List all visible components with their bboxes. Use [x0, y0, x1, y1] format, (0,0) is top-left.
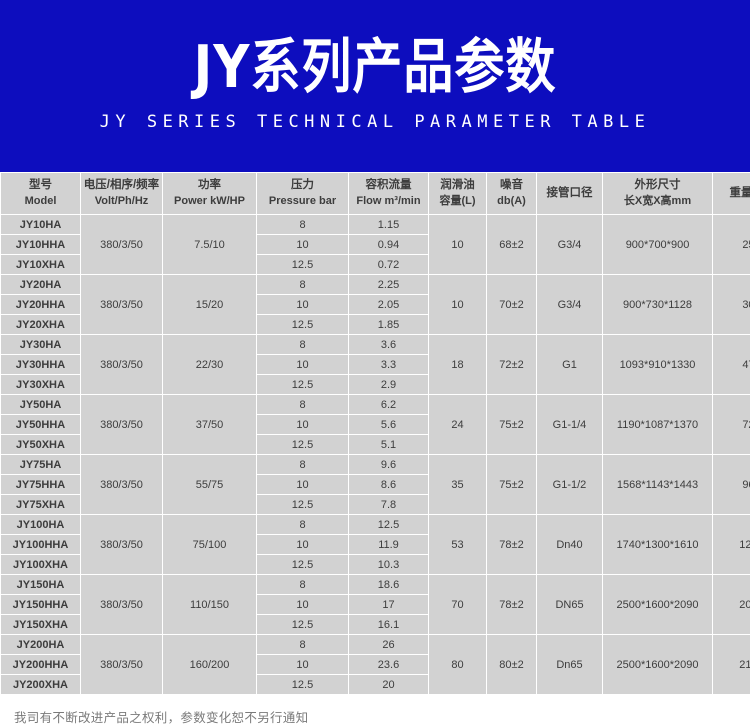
table-row: JY150HA380/3/50110/150818.67078±2DN65250… [1, 575, 750, 595]
cell-noise: 70±2 [487, 275, 537, 335]
column-header-weight: 重量(kg) [713, 173, 750, 215]
cell-flow: 1.15 [349, 215, 429, 235]
header-row: 型号 Model 电压/相序/频率 Volt/Ph/Hz 功率 Power kW… [1, 173, 750, 215]
cell-dimension: 1568*1143*1443 [603, 455, 713, 515]
cell-pressure: 8 [257, 575, 349, 595]
cell-flow: 3.3 [349, 355, 429, 375]
cell-pressure: 8 [257, 215, 349, 235]
cell-flow: 12.5 [349, 515, 429, 535]
column-header-model-cn: 型号 [1, 178, 80, 194]
cell-pipe-diameter: G1 [537, 335, 603, 395]
table-row: JY30HA380/3/5022/3083.61872±2G11093*910*… [1, 335, 750, 355]
cell-pipe-diameter: G3/4 [537, 215, 603, 275]
cell-voltage: 380/3/50 [81, 275, 163, 335]
cell-noise: 78±2 [487, 575, 537, 635]
cell-flow: 10.3 [349, 555, 429, 575]
cell-lubricant: 35 [429, 455, 487, 515]
cell-dimension: 1190*1087*1370 [603, 395, 713, 455]
cell-model: JY100HA [1, 515, 81, 535]
cell-flow: 20 [349, 675, 429, 695]
cell-dimension: 900*700*900 [603, 215, 713, 275]
cell-pressure: 10 [257, 595, 349, 615]
cell-model: JY50HHA [1, 415, 81, 435]
cell-flow: 26 [349, 635, 429, 655]
cell-weight: 961 [713, 455, 750, 515]
column-header-pressure: 压力 Pressure bar [257, 173, 349, 215]
cell-model: JY75HHA [1, 475, 81, 495]
cell-voltage: 380/3/50 [81, 335, 163, 395]
banner-title-english: JY SERIES TECHNICAL PARAMETER TABLE [100, 114, 651, 131]
cell-dimension: 2500*1600*2090 [603, 575, 713, 635]
cell-pressure: 12.5 [257, 435, 349, 455]
cell-dimension: 900*730*1128 [603, 275, 713, 335]
cell-noise: 80±2 [487, 635, 537, 695]
cell-flow: 5.6 [349, 415, 429, 435]
cell-voltage: 380/3/50 [81, 635, 163, 695]
cell-flow: 2.05 [349, 295, 429, 315]
table-row: JY75HA380/3/5055/7589.63575±2G1-1/21568*… [1, 455, 750, 475]
cell-dimension: 1740*1300*1610 [603, 515, 713, 575]
cell-model: JY150HA [1, 575, 81, 595]
cell-model: JY30XHA [1, 375, 81, 395]
cell-model: JY10HHA [1, 235, 81, 255]
cell-power: 15/20 [163, 275, 257, 335]
cell-lubricant: 18 [429, 335, 487, 395]
cell-pressure: 8 [257, 335, 349, 355]
cell-weight: 308 [713, 275, 750, 335]
cell-weight: 470 [713, 335, 750, 395]
cell-flow: 0.94 [349, 235, 429, 255]
column-header-model: 型号 Model [1, 173, 81, 215]
cell-dimension: 2500*1600*2090 [603, 635, 713, 695]
cell-model: JY150XHA [1, 615, 81, 635]
cell-pressure: 8 [257, 395, 349, 415]
cell-pressure: 12.5 [257, 675, 349, 695]
table-header: 型号 Model 电压/相序/频率 Volt/Ph/Hz 功率 Power kW… [1, 173, 750, 215]
cell-noise: 78±2 [487, 515, 537, 575]
cell-model: JY10HA [1, 215, 81, 235]
cell-model: JY10XHA [1, 255, 81, 275]
cell-pipe-diameter: G1-1/2 [537, 455, 603, 515]
cell-noise: 68±2 [487, 215, 537, 275]
cell-flow: 5.1 [349, 435, 429, 455]
cell-lubricant: 10 [429, 275, 487, 335]
cell-power: 55/75 [163, 455, 257, 515]
cell-model: JY150HHA [1, 595, 81, 615]
cell-weight: 2050 [713, 575, 750, 635]
cell-flow: 7.8 [349, 495, 429, 515]
cell-voltage: 380/3/50 [81, 515, 163, 575]
spec-table-container: 型号 Model 电压/相序/频率 Volt/Ph/Hz 功率 Power kW… [0, 172, 750, 695]
cell-pressure: 12.5 [257, 555, 349, 575]
cell-model: JY100HHA [1, 535, 81, 555]
cell-flow: 2.25 [349, 275, 429, 295]
cell-lubricant: 70 [429, 575, 487, 635]
cell-model: JY200XHA [1, 675, 81, 695]
cell-power: 160/200 [163, 635, 257, 695]
cell-flow: 0.72 [349, 255, 429, 275]
cell-pressure: 12.5 [257, 495, 349, 515]
column-header-lubricant: 润滑油 容量(L) [429, 173, 487, 215]
cell-model: JY75HA [1, 455, 81, 475]
cell-dimension: 1093*910*1330 [603, 335, 713, 395]
cell-voltage: 380/3/50 [81, 575, 163, 635]
cell-pipe-diameter: DN65 [537, 575, 603, 635]
table-row: JY200HA380/3/50160/2008268080±2Dn652500*… [1, 635, 750, 655]
cell-model: JY20XHA [1, 315, 81, 335]
column-header-pipe-diameter-cn: 接管口径 [537, 186, 602, 202]
cell-lubricant: 80 [429, 635, 487, 695]
cell-weight: 1235 [713, 515, 750, 575]
table-row: JY10HA380/3/507.5/1081.151068±2G3/4900*7… [1, 215, 750, 235]
cell-model: JY200HA [1, 635, 81, 655]
column-header-pressure-en: Pressure bar [257, 194, 348, 209]
cell-pressure: 10 [257, 535, 349, 555]
column-header-flow-en: Flow m³/min [349, 194, 428, 209]
cell-power: 75/100 [163, 515, 257, 575]
cell-flow: 6.2 [349, 395, 429, 415]
column-header-power-cn: 功率 [163, 178, 256, 194]
cell-flow: 11.9 [349, 535, 429, 555]
table-body: JY10HA380/3/507.5/1081.151068±2G3/4900*7… [1, 215, 750, 695]
cell-flow: 18.6 [349, 575, 429, 595]
column-header-voltage-en: Volt/Ph/Hz [81, 194, 162, 209]
cell-model: JY75XHA [1, 495, 81, 515]
cell-flow: 3.6 [349, 335, 429, 355]
cell-pressure: 10 [257, 475, 349, 495]
column-header-flow-cn: 容积流量 [349, 178, 428, 194]
column-header-lubricant-cn: 润滑油 [429, 178, 486, 194]
cell-noise: 75±2 [487, 395, 537, 455]
cell-pressure: 12.5 [257, 315, 349, 335]
cell-flow: 1.85 [349, 315, 429, 335]
banner-title-chinese: JY系列产品参数 [194, 37, 557, 96]
cell-power: 7.5/10 [163, 215, 257, 275]
cell-flow: 9.6 [349, 455, 429, 475]
cell-flow: 23.6 [349, 655, 429, 675]
cell-model: JY20HA [1, 275, 81, 295]
column-header-voltage: 电压/相序/频率 Volt/Ph/Hz [81, 173, 163, 215]
cell-pressure: 10 [257, 655, 349, 675]
cell-model: JY200HHA [1, 655, 81, 675]
cell-weight: 250 [713, 215, 750, 275]
cell-lubricant: 24 [429, 395, 487, 455]
cell-pressure: 12.5 [257, 255, 349, 275]
column-header-lubricant-en: 容量(L) [429, 194, 486, 209]
cell-noise: 75±2 [487, 455, 537, 515]
column-header-pressure-cn: 压力 [257, 178, 348, 194]
table-row: JY100HA380/3/5075/100812.55378±2Dn401740… [1, 515, 750, 535]
cell-voltage: 380/3/50 [81, 215, 163, 275]
cell-pipe-diameter: Dn65 [537, 635, 603, 695]
cell-model: JY20HHA [1, 295, 81, 315]
cell-pipe-diameter: G1-1/4 [537, 395, 603, 455]
cell-power: 37/50 [163, 395, 257, 455]
technical-parameter-table: 型号 Model 电压/相序/频率 Volt/Ph/Hz 功率 Power kW… [0, 172, 750, 695]
cell-model: JY50XHA [1, 435, 81, 455]
column-header-weight-cn: 重量(kg) [713, 186, 750, 202]
cell-pipe-diameter: Dn40 [537, 515, 603, 575]
column-header-noise-en: db(A) [487, 194, 536, 209]
cell-lubricant: 53 [429, 515, 487, 575]
cell-model: JY30HA [1, 335, 81, 355]
cell-voltage: 380/3/50 [81, 455, 163, 515]
column-header-dimension-cn: 外形尺寸 [603, 178, 712, 194]
cell-pipe-diameter: G3/4 [537, 275, 603, 335]
column-header-power: 功率 Power kW/HP [163, 173, 257, 215]
cell-flow: 17 [349, 595, 429, 615]
column-header-voltage-cn: 电压/相序/频率 [81, 178, 162, 194]
cell-power: 22/30 [163, 335, 257, 395]
cell-pressure: 8 [257, 455, 349, 475]
table-row: JY20HA380/3/5015/2082.251070±2G3/4900*73… [1, 275, 750, 295]
column-header-flow: 容积流量 Flow m³/min [349, 173, 429, 215]
cell-flow: 2.9 [349, 375, 429, 395]
cell-pressure: 10 [257, 355, 349, 375]
column-header-noise: 噪音 db(A) [487, 173, 537, 215]
footer-disclaimer: 我司有不断改进产品之权利，参数变化恕不另行通知 [0, 695, 750, 726]
column-header-dimension-en: 长X宽X高mm [603, 194, 712, 209]
page-banner: JY系列产品参数 JY SERIES TECHNICAL PARAMETER T… [0, 0, 750, 172]
cell-power: 110/150 [163, 575, 257, 635]
cell-pressure: 10 [257, 295, 349, 315]
cell-flow: 16.1 [349, 615, 429, 635]
cell-pressure: 10 [257, 415, 349, 435]
cell-model: JY100XHA [1, 555, 81, 575]
column-header-power-en: Power kW/HP [163, 194, 256, 209]
cell-pressure: 8 [257, 515, 349, 535]
column-header-dimension: 外形尺寸 长X宽X高mm [603, 173, 713, 215]
column-header-noise-cn: 噪音 [487, 178, 536, 194]
cell-weight: 2150 [713, 635, 750, 695]
cell-pressure: 10 [257, 235, 349, 255]
column-header-model-en: Model [1, 194, 80, 209]
cell-model: JY50HA [1, 395, 81, 415]
cell-model: JY30HHA [1, 355, 81, 375]
cell-pressure: 8 [257, 275, 349, 295]
cell-weight: 720 [713, 395, 750, 455]
cell-voltage: 380/3/50 [81, 395, 163, 455]
table-row: JY50HA380/3/5037/5086.22475±2G1-1/41190*… [1, 395, 750, 415]
cell-flow: 8.6 [349, 475, 429, 495]
column-header-pipe-diameter: 接管口径 [537, 173, 603, 215]
cell-pressure: 8 [257, 635, 349, 655]
cell-noise: 72±2 [487, 335, 537, 395]
cell-lubricant: 10 [429, 215, 487, 275]
cell-pressure: 12.5 [257, 375, 349, 395]
cell-pressure: 12.5 [257, 615, 349, 635]
